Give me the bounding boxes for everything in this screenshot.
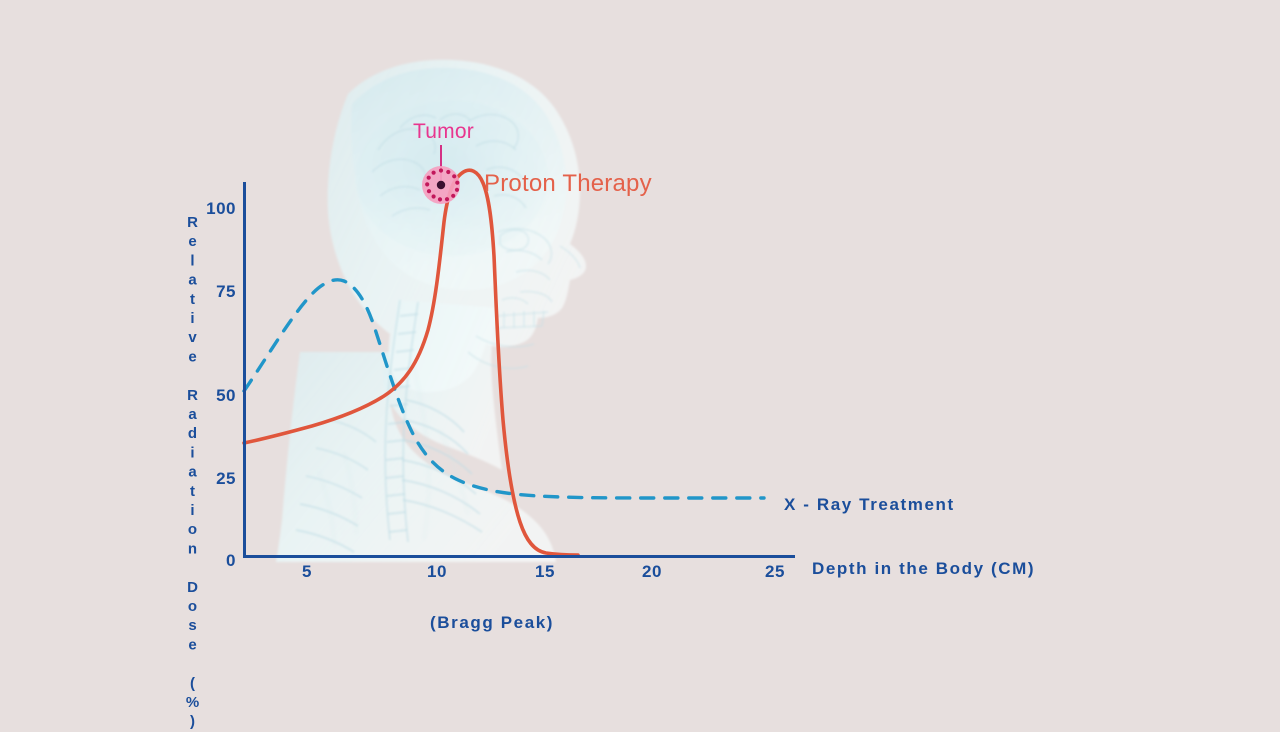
chart-canvas: 100 75 50 25 0 5 10 15 20 25 Relative Ra… <box>0 0 1280 720</box>
tumor-marker-group <box>0 0 1280 720</box>
proton-therapy-label: Proton Therapy <box>484 170 652 198</box>
tumor-marker-ring <box>425 168 459 201</box>
chart-annotations: Tumor Proton Therapy <box>0 0 1280 720</box>
tumor-center-dot <box>437 181 445 189</box>
tumor-marker-disc <box>422 166 460 204</box>
tumor-label: Tumor <box>413 120 474 144</box>
